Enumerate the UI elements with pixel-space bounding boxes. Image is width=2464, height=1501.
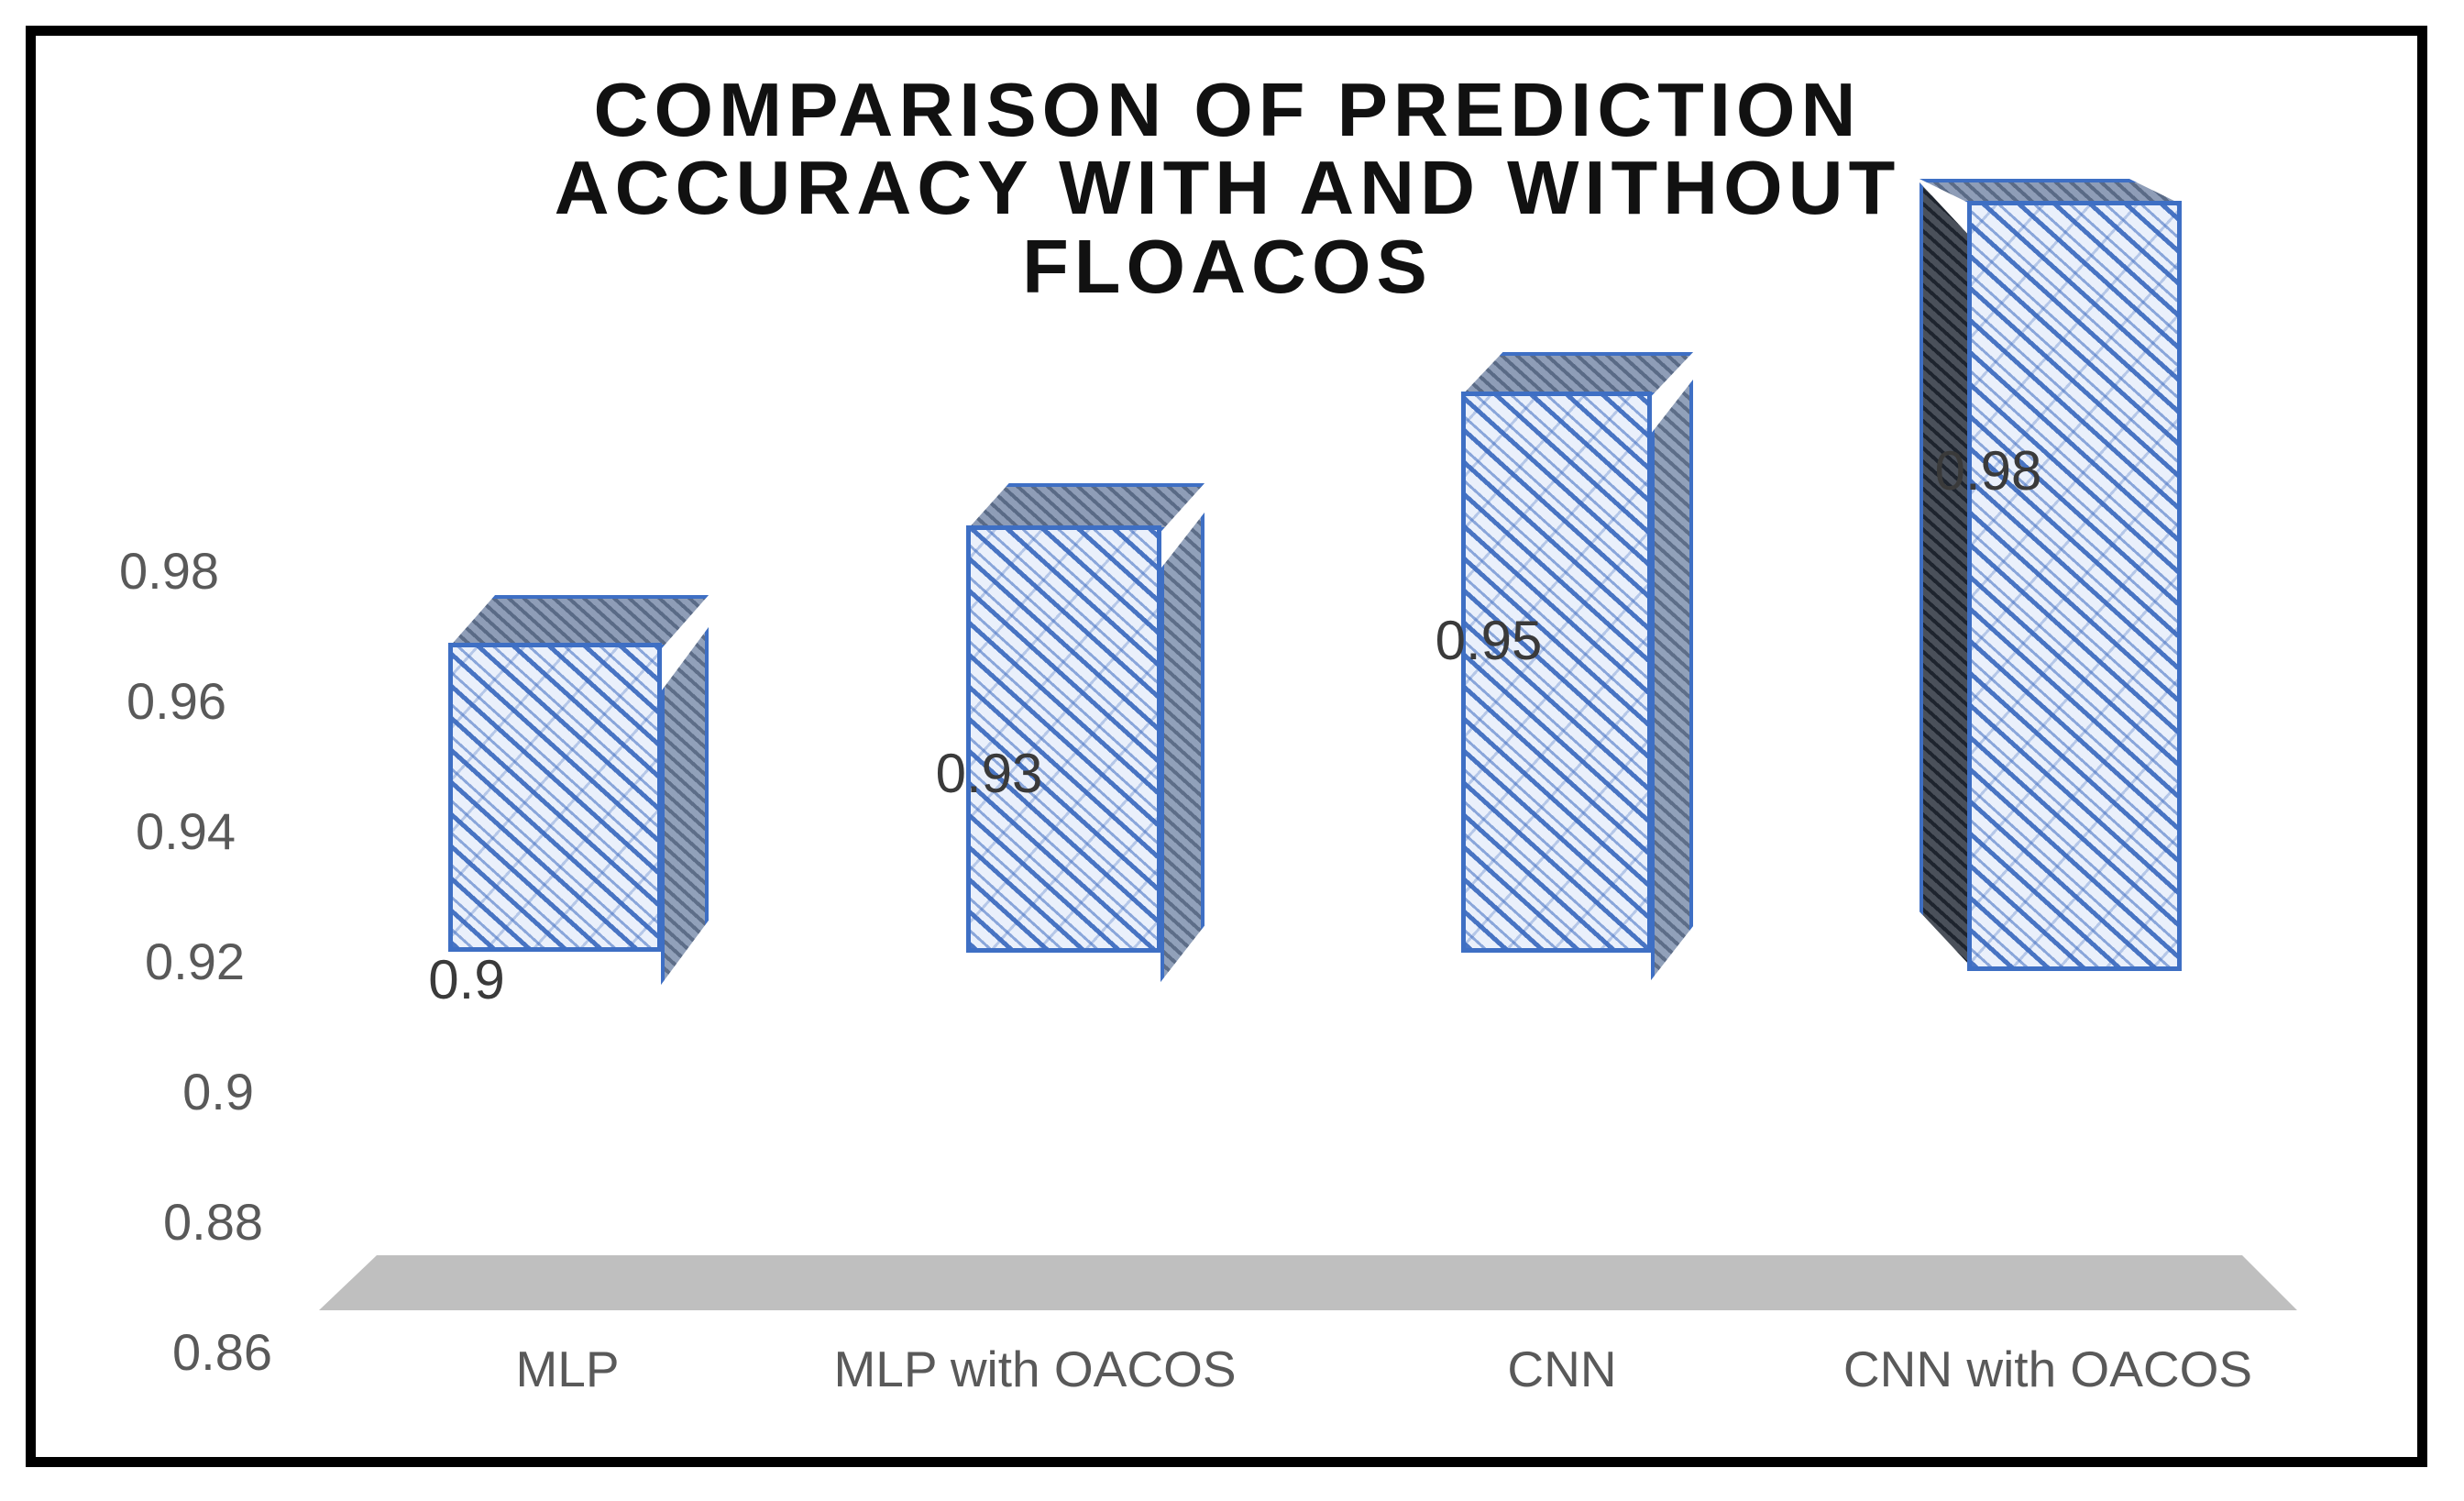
- bar-cnn-with-oacos[interactable]: [1919, 182, 2231, 1324]
- bar-cnn[interactable]: [1461, 352, 1764, 1324]
- bar-mlp-front-face: [448, 643, 662, 952]
- y-tick-096: 0.96: [0, 671, 226, 731]
- y-tick-090: 0.9: [0, 1062, 254, 1121]
- bar-mlp-side-face: [661, 627, 709, 985]
- bar-cnn-front-face: [1461, 392, 1652, 953]
- bar-cnn-top-face: [1461, 352, 1693, 396]
- chart-title: COMPARISON OF PREDICTION ACCURACY WITH A…: [292, 71, 2162, 305]
- bar-mlp-with-oacos-top-face: [966, 483, 1204, 531]
- bar-cnn-with-oacos-side-face: [1919, 182, 1971, 966]
- y-tick-088: 0.88: [0, 1192, 263, 1252]
- y-tick-092: 0.92: [0, 932, 245, 991]
- y-tick-094: 0.94: [0, 801, 236, 861]
- category-label-mlp-with-oacos: MLP with OACOS: [714, 1340, 1356, 1398]
- value-label-mlp-with-oacos: 0.93: [769, 742, 1209, 805]
- bar-cnn-side-face: [1651, 380, 1693, 980]
- chart-frame: COMPARISON OF PREDICTION ACCURACY WITH A…: [26, 26, 2427, 1467]
- y-tick-086: 0.86: [0, 1322, 272, 1382]
- value-label-cnn: 0.95: [1269, 609, 1709, 672]
- y-tick-098: 0.98: [0, 541, 219, 601]
- chart-title-line-1: COMPARISON OF PREDICTION: [292, 71, 2162, 149]
- value-label-cnn-with-oacos: 0.98: [1768, 439, 2208, 502]
- plot-area: COMPARISON OF PREDICTION ACCURACY WITH A…: [36, 36, 2417, 1457]
- chart-title-line-2: ACCURACY WITH AND WITHOUT: [292, 149, 2162, 226]
- bar-cnn-with-oacos-front-face: [1967, 201, 2182, 971]
- value-label-mlp: 0.9: [247, 948, 687, 1011]
- bar-mlp-with-oacos[interactable]: [966, 483, 1269, 1322]
- category-label-cnn-with-oacos: CNN with OACOS: [1727, 1340, 2369, 1398]
- chart-title-line-3: FLOACOS: [292, 227, 2162, 305]
- bar-mlp-with-oacos-front-face: [966, 525, 1161, 953]
- bar-mlp-top-face: [448, 595, 709, 648]
